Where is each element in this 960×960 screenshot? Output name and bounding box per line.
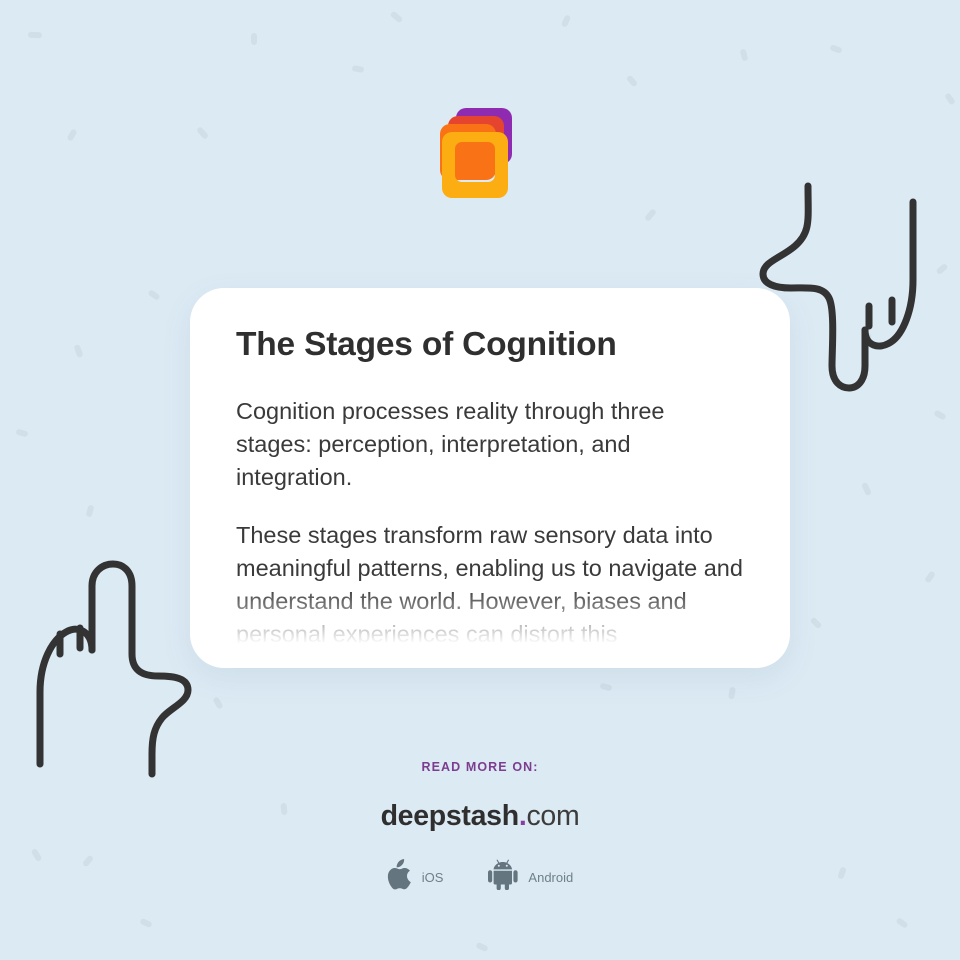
android-icon [487,859,519,895]
confetti-piece [86,504,95,517]
confetti-piece [196,126,209,140]
confetti-piece [475,942,488,953]
apple-icon [387,859,413,895]
wordmark-tld: com [526,800,579,832]
idea-card-content: The Stages of Cognition Cognition proces… [190,288,790,651]
card-paragraph-1: Cognition processes reality through thre… [236,395,744,494]
confetti-piece [644,208,657,222]
confetti-piece [810,617,823,630]
confetti-piece [15,429,28,438]
confetti-piece [73,344,83,358]
confetti-piece [861,482,872,496]
confetti-piece [895,917,908,929]
confetti-piece [561,14,572,27]
deepstash-logo[interactable] [424,104,520,200]
confetti-piece [352,65,365,73]
confetti-piece [251,33,257,45]
android-store-label: Android [528,870,573,885]
confetti-piece [864,333,871,345]
confetti-piece [139,918,152,929]
confetti-piece [944,92,956,105]
confetti-piece [390,11,404,24]
idea-card[interactable]: The Stages of Cognition Cognition proces… [190,288,790,668]
ios-store-badge[interactable]: iOS [387,859,444,895]
confetti-piece [66,128,77,141]
ios-store-label: iOS [422,870,444,885]
confetti-piece [740,48,749,61]
confetti-piece [829,44,842,54]
wordmark-name: deepstash [381,800,519,832]
confetti-piece [599,683,612,692]
android-store-badge[interactable]: Android [487,859,573,895]
read-more-label: READ MORE ON: [0,760,960,774]
confetti-piece [147,289,160,301]
page-title: The Stages of Cognition [236,326,744,365]
footer: READ MORE ON: deepstash.com iOS [0,760,960,895]
hand-pointing-up-icon [22,558,204,780]
deepstash-wordmark[interactable]: deepstash.com [0,800,960,833]
confetti-piece [933,409,946,420]
confetti-piece [924,570,936,583]
confetti-piece [626,74,638,87]
card-paragraph-2: These stages transform raw sensory data … [236,519,744,651]
deepstash-share-card: The Stages of Cognition Cognition proces… [0,0,960,960]
confetti-piece [28,32,42,38]
confetti-piece [935,263,948,275]
store-badges: iOS Android [0,859,960,895]
confetti-piece [728,687,736,700]
confetti-piece [212,696,223,709]
